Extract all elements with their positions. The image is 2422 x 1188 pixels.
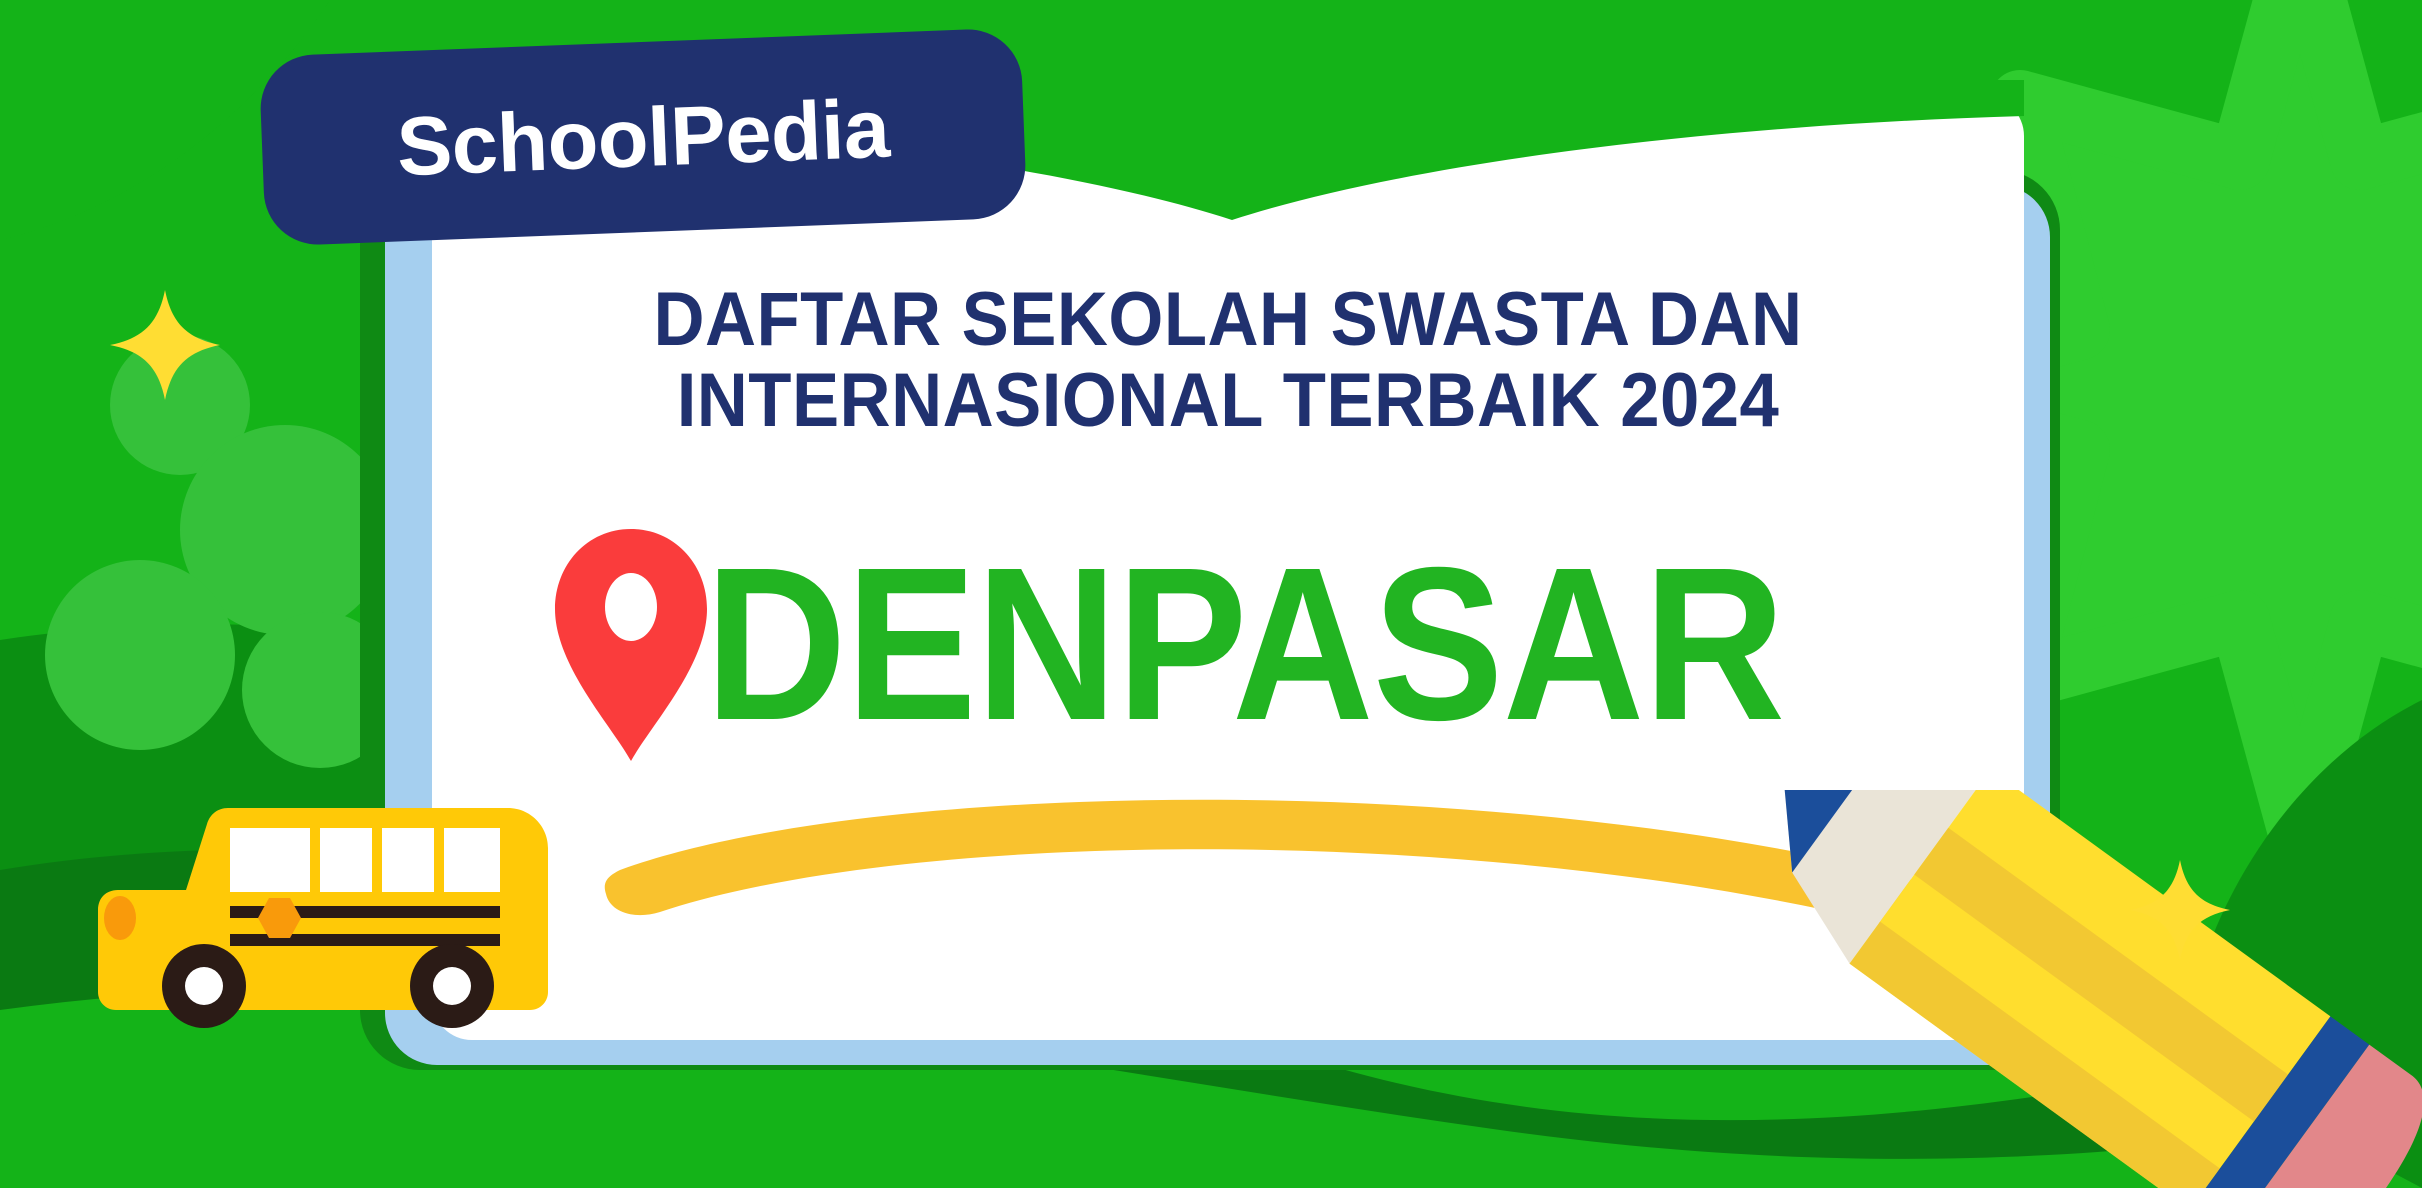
brand-badge-label: SchoolPedia <box>395 86 890 188</box>
page-title: DAFTAR SEKOLAH SWASTA DAN INTERNASIONAL … <box>488 280 1969 441</box>
brand-badge[interactable]: SchoolPedia <box>259 27 1028 246</box>
city-row: DENPASAR <box>432 510 2024 780</box>
school-ranking-banner: SchoolPedia DAFTAR SEKOLAH SWASTA DAN IN… <box>0 0 2422 1188</box>
location-pin-icon <box>551 525 711 765</box>
page-title-line-1: DAFTAR SEKOLAH SWASTA DAN <box>653 277 1802 362</box>
city-name: DENPASAR <box>705 536 1784 754</box>
sparkle-icon <box>110 290 220 400</box>
page-title-line-2: INTERNASIONAL TERBAIK 2024 <box>488 361 1969 442</box>
school-bus-icon <box>78 790 568 1060</box>
sparkle-icon <box>2130 860 2230 960</box>
pencil-icon <box>1740 790 2422 1188</box>
